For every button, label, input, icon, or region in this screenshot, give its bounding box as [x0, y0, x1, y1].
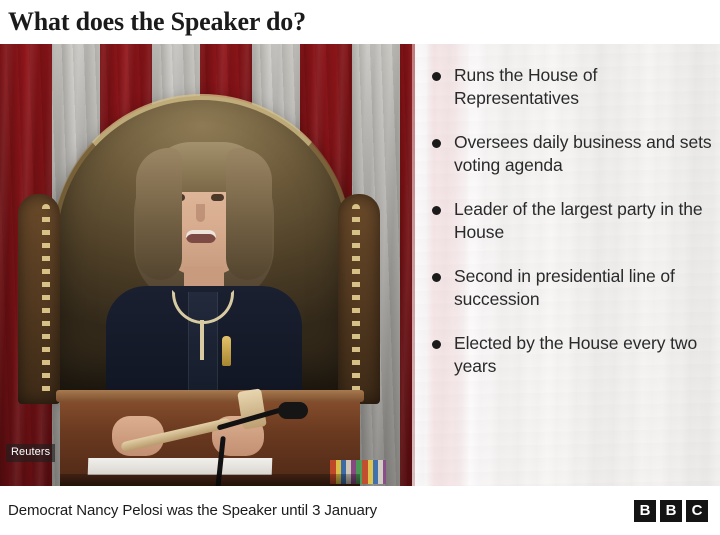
infographic-card: What does the Speaker do? — [0, 0, 720, 535]
bullet-dot-icon — [432, 340, 441, 349]
bbc-logo-block-c: C — [686, 500, 708, 522]
bullet-dot-icon — [432, 206, 441, 215]
chair-studs-left — [42, 204, 50, 394]
title-bar: What does the Speaker do? — [0, 0, 720, 44]
desk-papers — [88, 458, 273, 475]
hair-left — [136, 148, 182, 280]
list-item-label: Leader of the largest party in the House — [454, 198, 714, 244]
bullet-dot-icon — [432, 139, 441, 148]
list-item: Runs the House of Representatives — [432, 64, 714, 110]
bbc-logo-block-b2: B — [660, 500, 682, 522]
eye-right — [211, 194, 224, 201]
bbc-logo-block-b1: B — [634, 500, 656, 522]
nose — [196, 204, 205, 222]
bullet-dot-icon — [432, 273, 441, 282]
rostrum-desk-top — [56, 390, 364, 402]
necklace-pendant — [200, 320, 204, 360]
caption-text: Democrat Nancy Pelosi was the Speaker un… — [8, 502, 377, 519]
desk-shadow — [60, 474, 360, 486]
page-title: What does the Speaker do? — [0, 7, 306, 37]
list-item-label: Elected by the House every two years — [454, 332, 714, 378]
list-item: Second in presidential line of successio… — [432, 265, 714, 311]
list-item: Oversees daily business and sets voting … — [432, 131, 714, 177]
list-item: Elected by the House every two years — [432, 332, 714, 378]
list-item-label: Oversees daily business and sets voting … — [454, 131, 714, 177]
bullet-dot-icon — [432, 72, 441, 81]
mouth — [186, 230, 216, 243]
list-item-label: Runs the House of Representatives — [454, 64, 714, 110]
list-item-label: Second in presidential line of successio… — [454, 265, 714, 311]
bullets-panel: Runs the House of Representatives Overse… — [412, 44, 720, 486]
chair-arm-left — [18, 194, 60, 404]
lapel-pin — [222, 336, 231, 366]
body-area: Reuters Runs the House of Representative… — [0, 44, 720, 486]
caption-bar: Democrat Nancy Pelosi was the Speaker un… — [0, 486, 720, 535]
bbc-logo: B B C — [634, 500, 708, 522]
bullet-list: Runs the House of Representatives Overse… — [412, 44, 720, 486]
speaker-photo: Reuters — [0, 44, 412, 486]
photo-credit: Reuters — [6, 444, 55, 462]
list-item: Leader of the largest party in the House — [432, 198, 714, 244]
chair-studs-right — [352, 204, 360, 394]
hair-right — [226, 148, 272, 280]
microphone-head — [278, 402, 308, 419]
